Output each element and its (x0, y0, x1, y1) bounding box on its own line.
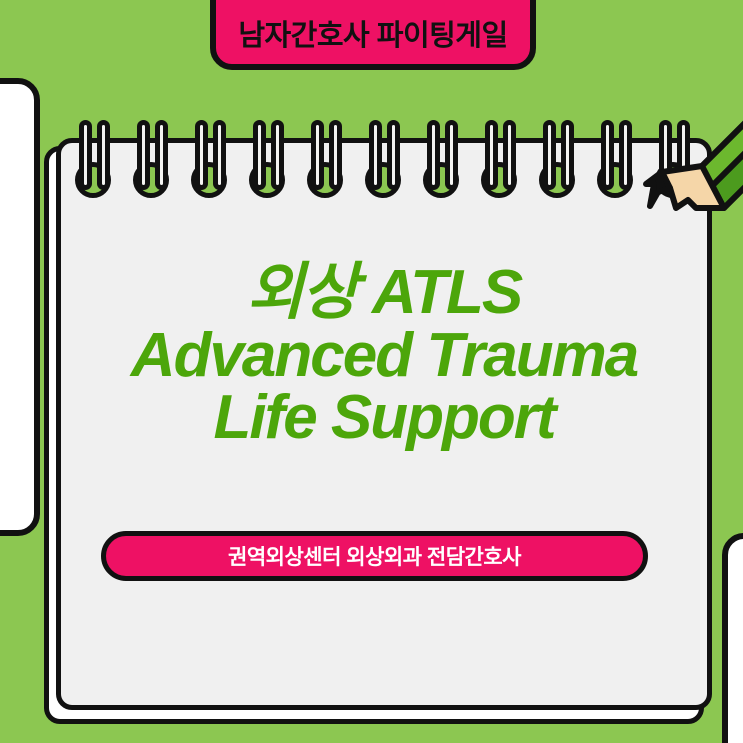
poster-canvas: 남자간호사 파이팅게일 (0, 0, 743, 743)
title-line-1: 외상 ATLS (56, 262, 712, 325)
top-badge-label: 남자간호사 파이팅게일 (238, 12, 507, 54)
decorative-card-right (722, 533, 743, 743)
decorative-card-left (0, 78, 40, 536)
subtitle-badge: 권역외상센터 외상외과 전담간호사 (101, 531, 648, 581)
title-line-3: Life Support (56, 387, 712, 450)
top-badge: 남자간호사 파이팅게일 (210, 0, 536, 70)
title-block: 외상 ATLS Advanced Trauma Life Support (56, 262, 712, 450)
subtitle-badge-label: 권역외상센터 외상외과 전담간호사 (228, 541, 521, 571)
title-line-2: Advanced Trauma (56, 325, 712, 388)
